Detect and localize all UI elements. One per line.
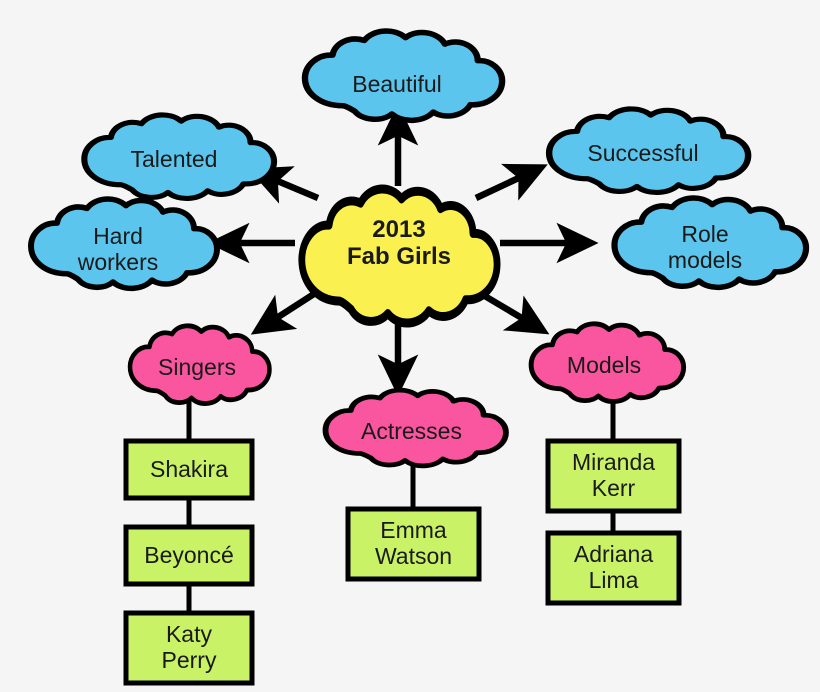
cloud-beautiful[interactable] xyxy=(305,31,502,120)
box-shakira[interactable] xyxy=(126,441,252,498)
arrow-to-successful xyxy=(476,168,540,198)
cloud-hard-workers[interactable] xyxy=(31,199,217,288)
center-cloud-group xyxy=(302,189,497,323)
cloud-role-models[interactable] xyxy=(614,198,806,287)
arrow-to-models xyxy=(478,292,542,330)
box-beyonce[interactable] xyxy=(126,527,252,584)
box-katy-perry[interactable] xyxy=(126,613,252,683)
cloud-actresses[interactable] xyxy=(326,390,506,466)
mindmap-canvas: 2013 Fab Girls Beautiful Talented Hard w… xyxy=(0,0,820,692)
name-boxes xyxy=(126,441,679,683)
box-emma-watson[interactable] xyxy=(348,509,479,579)
cloud-successful[interactable] xyxy=(549,109,748,193)
cloud-center-fab-girls[interactable] xyxy=(302,189,497,323)
cloud-talented[interactable] xyxy=(84,115,274,199)
mindmap-graphics xyxy=(0,0,820,692)
arrow-to-singers xyxy=(258,292,317,330)
cloud-models[interactable] xyxy=(531,324,684,402)
box-miranda-kerr[interactable] xyxy=(548,441,679,511)
cloud-singers[interactable] xyxy=(130,326,270,404)
box-adriana-lima[interactable] xyxy=(548,533,679,603)
